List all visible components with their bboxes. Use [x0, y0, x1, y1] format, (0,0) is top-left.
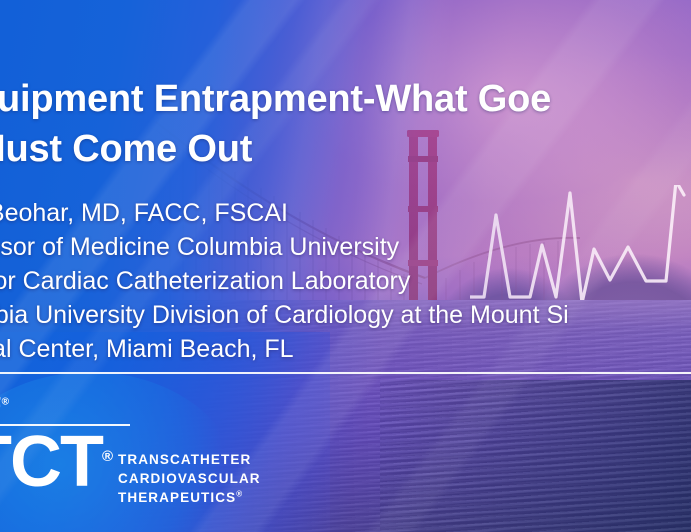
wordmark-therapeutics-text: THERAPEUTICS: [118, 490, 236, 505]
crf-logo: RF®: [0, 392, 10, 419]
wordmark-registered-mark: ®: [236, 490, 243, 499]
tct-logo-letters: TCT®: [0, 426, 113, 498]
presenter-affiliation: mbia University Division of Cardiology a…: [0, 298, 691, 332]
wordmark-line-cardiovascular: CARDIOVASCULAR: [118, 469, 261, 488]
presentation-title-slide: quipment Entrapment-What Goe Must Come O…: [0, 0, 691, 532]
tct-logo-text: TCT: [0, 422, 102, 502]
tct-wordmark: TRANSCATHETER CARDIOVASCULAR THERAPEUTIC…: [118, 450, 261, 507]
presenter-role-director: ctor Cardiac Catheterization Laboratory: [0, 264, 691, 298]
tct-logo-lockup: RF® TCT® TRANSCATHETER CARDIOVASCULAR TH…: [0, 392, 290, 522]
horizontal-divider: [0, 372, 691, 374]
tct-registered-mark: ®: [102, 448, 113, 465]
presenter-location: ical Center, Miami Beach, FL: [0, 332, 691, 366]
presenter-role-professor: essor of Medicine Columbia University: [0, 230, 691, 264]
wordmark-line-transcatheter: TRANSCATHETER: [118, 450, 261, 469]
wordmark-line-therapeutics: THERAPEUTICS®: [118, 488, 261, 507]
crf-registered-mark: ®: [2, 396, 10, 407]
slide-title: quipment Entrapment-What Goe Must Come O…: [0, 75, 691, 174]
presenter-details: t Beohar, MD, FACC, FSCAI essor of Medic…: [0, 196, 691, 366]
presenter-name: t Beohar, MD, FACC, FSCAI: [0, 196, 691, 230]
